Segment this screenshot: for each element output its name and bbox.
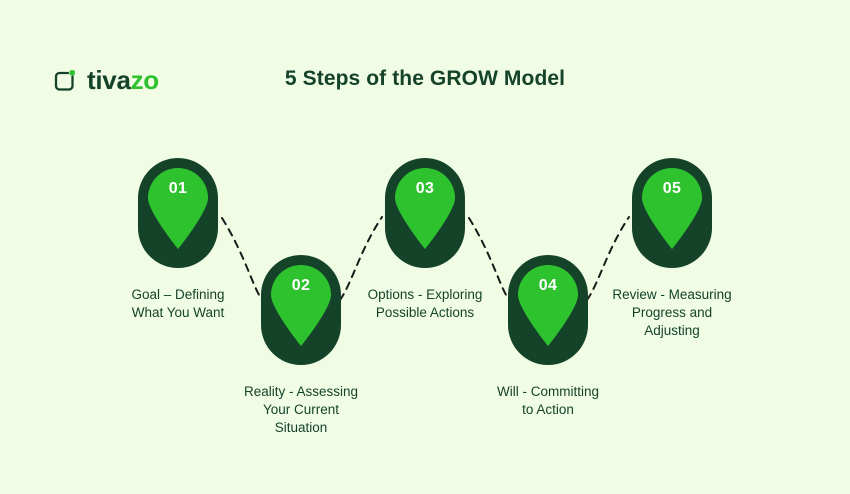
step-05-marker: 05 xyxy=(552,158,792,268)
step-05[interactable]: 05 Review - Measuring Progress and Adjus… xyxy=(552,158,792,340)
step-03-capsule: 03 xyxy=(385,158,465,268)
step-03-number: 03 xyxy=(385,180,465,198)
grow-model-diagram: 01 Goal – Defining What You Want 02 Real… xyxy=(0,0,850,494)
step-02-number: 02 xyxy=(261,277,341,295)
step-05-label: Review - Measuring Progress and Adjustin… xyxy=(552,286,792,340)
step-01-marker: 01 xyxy=(58,158,298,268)
step-05-number: 05 xyxy=(632,180,712,198)
infographic-canvas: tivazo 5 Steps of the GROW Model 01 Goal… xyxy=(0,0,850,494)
step-04-number: 04 xyxy=(508,277,588,295)
step-01-capsule: 01 xyxy=(138,158,218,268)
step-05-capsule: 05 xyxy=(632,158,712,268)
step-03-marker: 03 xyxy=(305,158,545,268)
step-02-label: Reality - Assessing Your Current Situati… xyxy=(181,383,421,437)
step-04-label: Will - Committing to Action xyxy=(428,383,668,419)
step-01-number: 01 xyxy=(138,180,218,198)
